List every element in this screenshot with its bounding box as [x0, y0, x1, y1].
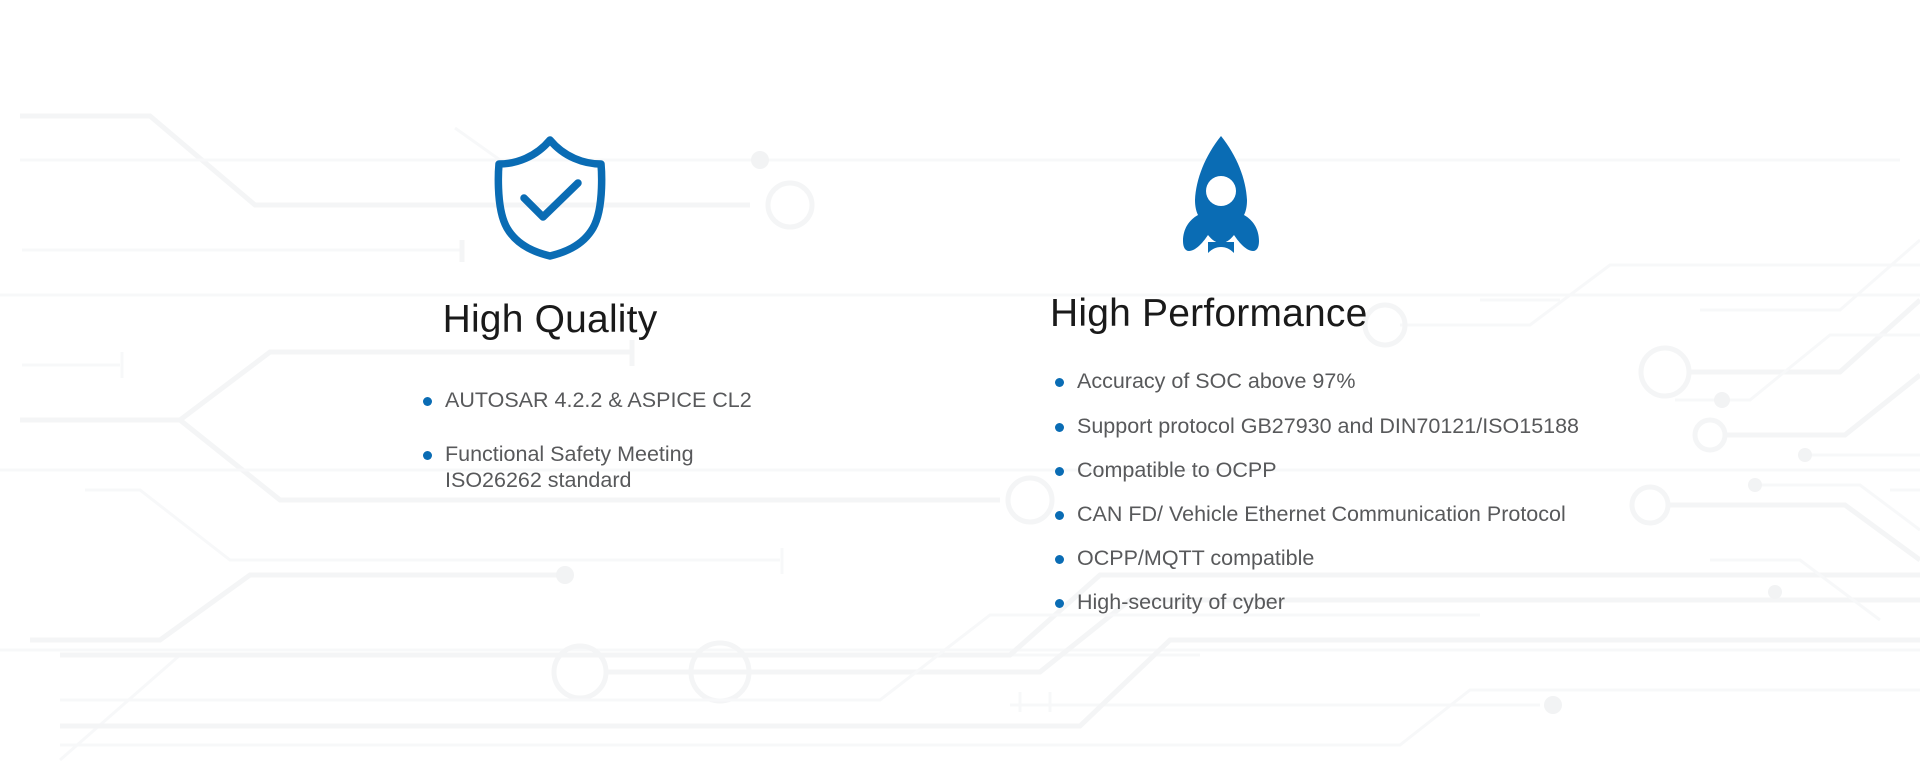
- feature-bullet-list-high-performance: Accuracy of SOC above 97% Support protoc…: [1055, 368, 1695, 615]
- list-item: Support protocol GB27930 and DIN70121/IS…: [1055, 413, 1695, 439]
- list-item: AUTOSAR 4.2.2 & ASPICE CL2: [423, 387, 753, 413]
- list-item: OCPP/MQTT compatible: [1055, 545, 1695, 571]
- shield-check-icon-wrapper: [340, 100, 760, 260]
- rocket-icon: [1175, 134, 1267, 256]
- feature-title-high-performance: High Performance: [1010, 292, 1710, 336]
- list-item: High-security of cyber: [1055, 589, 1695, 615]
- list-item: Compatible to OCPP: [1055, 457, 1695, 483]
- feature-section: High Quality AUTOSAR 4.2.2 & ASPICE CL2 …: [0, 0, 1920, 767]
- feature-title-high-quality: High Quality: [340, 298, 760, 342]
- feature-card-high-performance: High Performance Accuracy of SOC above 9…: [1010, 0, 1710, 616]
- feature-bullet-list-high-quality: AUTOSAR 4.2.2 & ASPICE CL2 Functional Sa…: [423, 387, 753, 494]
- list-item: Accuracy of SOC above 97%: [1055, 368, 1695, 394]
- feature-card-high-quality: High Quality AUTOSAR 4.2.2 & ASPICE CL2 …: [340, 0, 760, 494]
- list-item: Functional Safety Meeting ISO26262 stand…: [423, 441, 753, 493]
- list-item: CAN FD/ Vehicle Ethernet Communication P…: [1055, 501, 1695, 527]
- shield-check-icon: [491, 135, 609, 260]
- rocket-icon-wrapper: [1010, 96, 1710, 256]
